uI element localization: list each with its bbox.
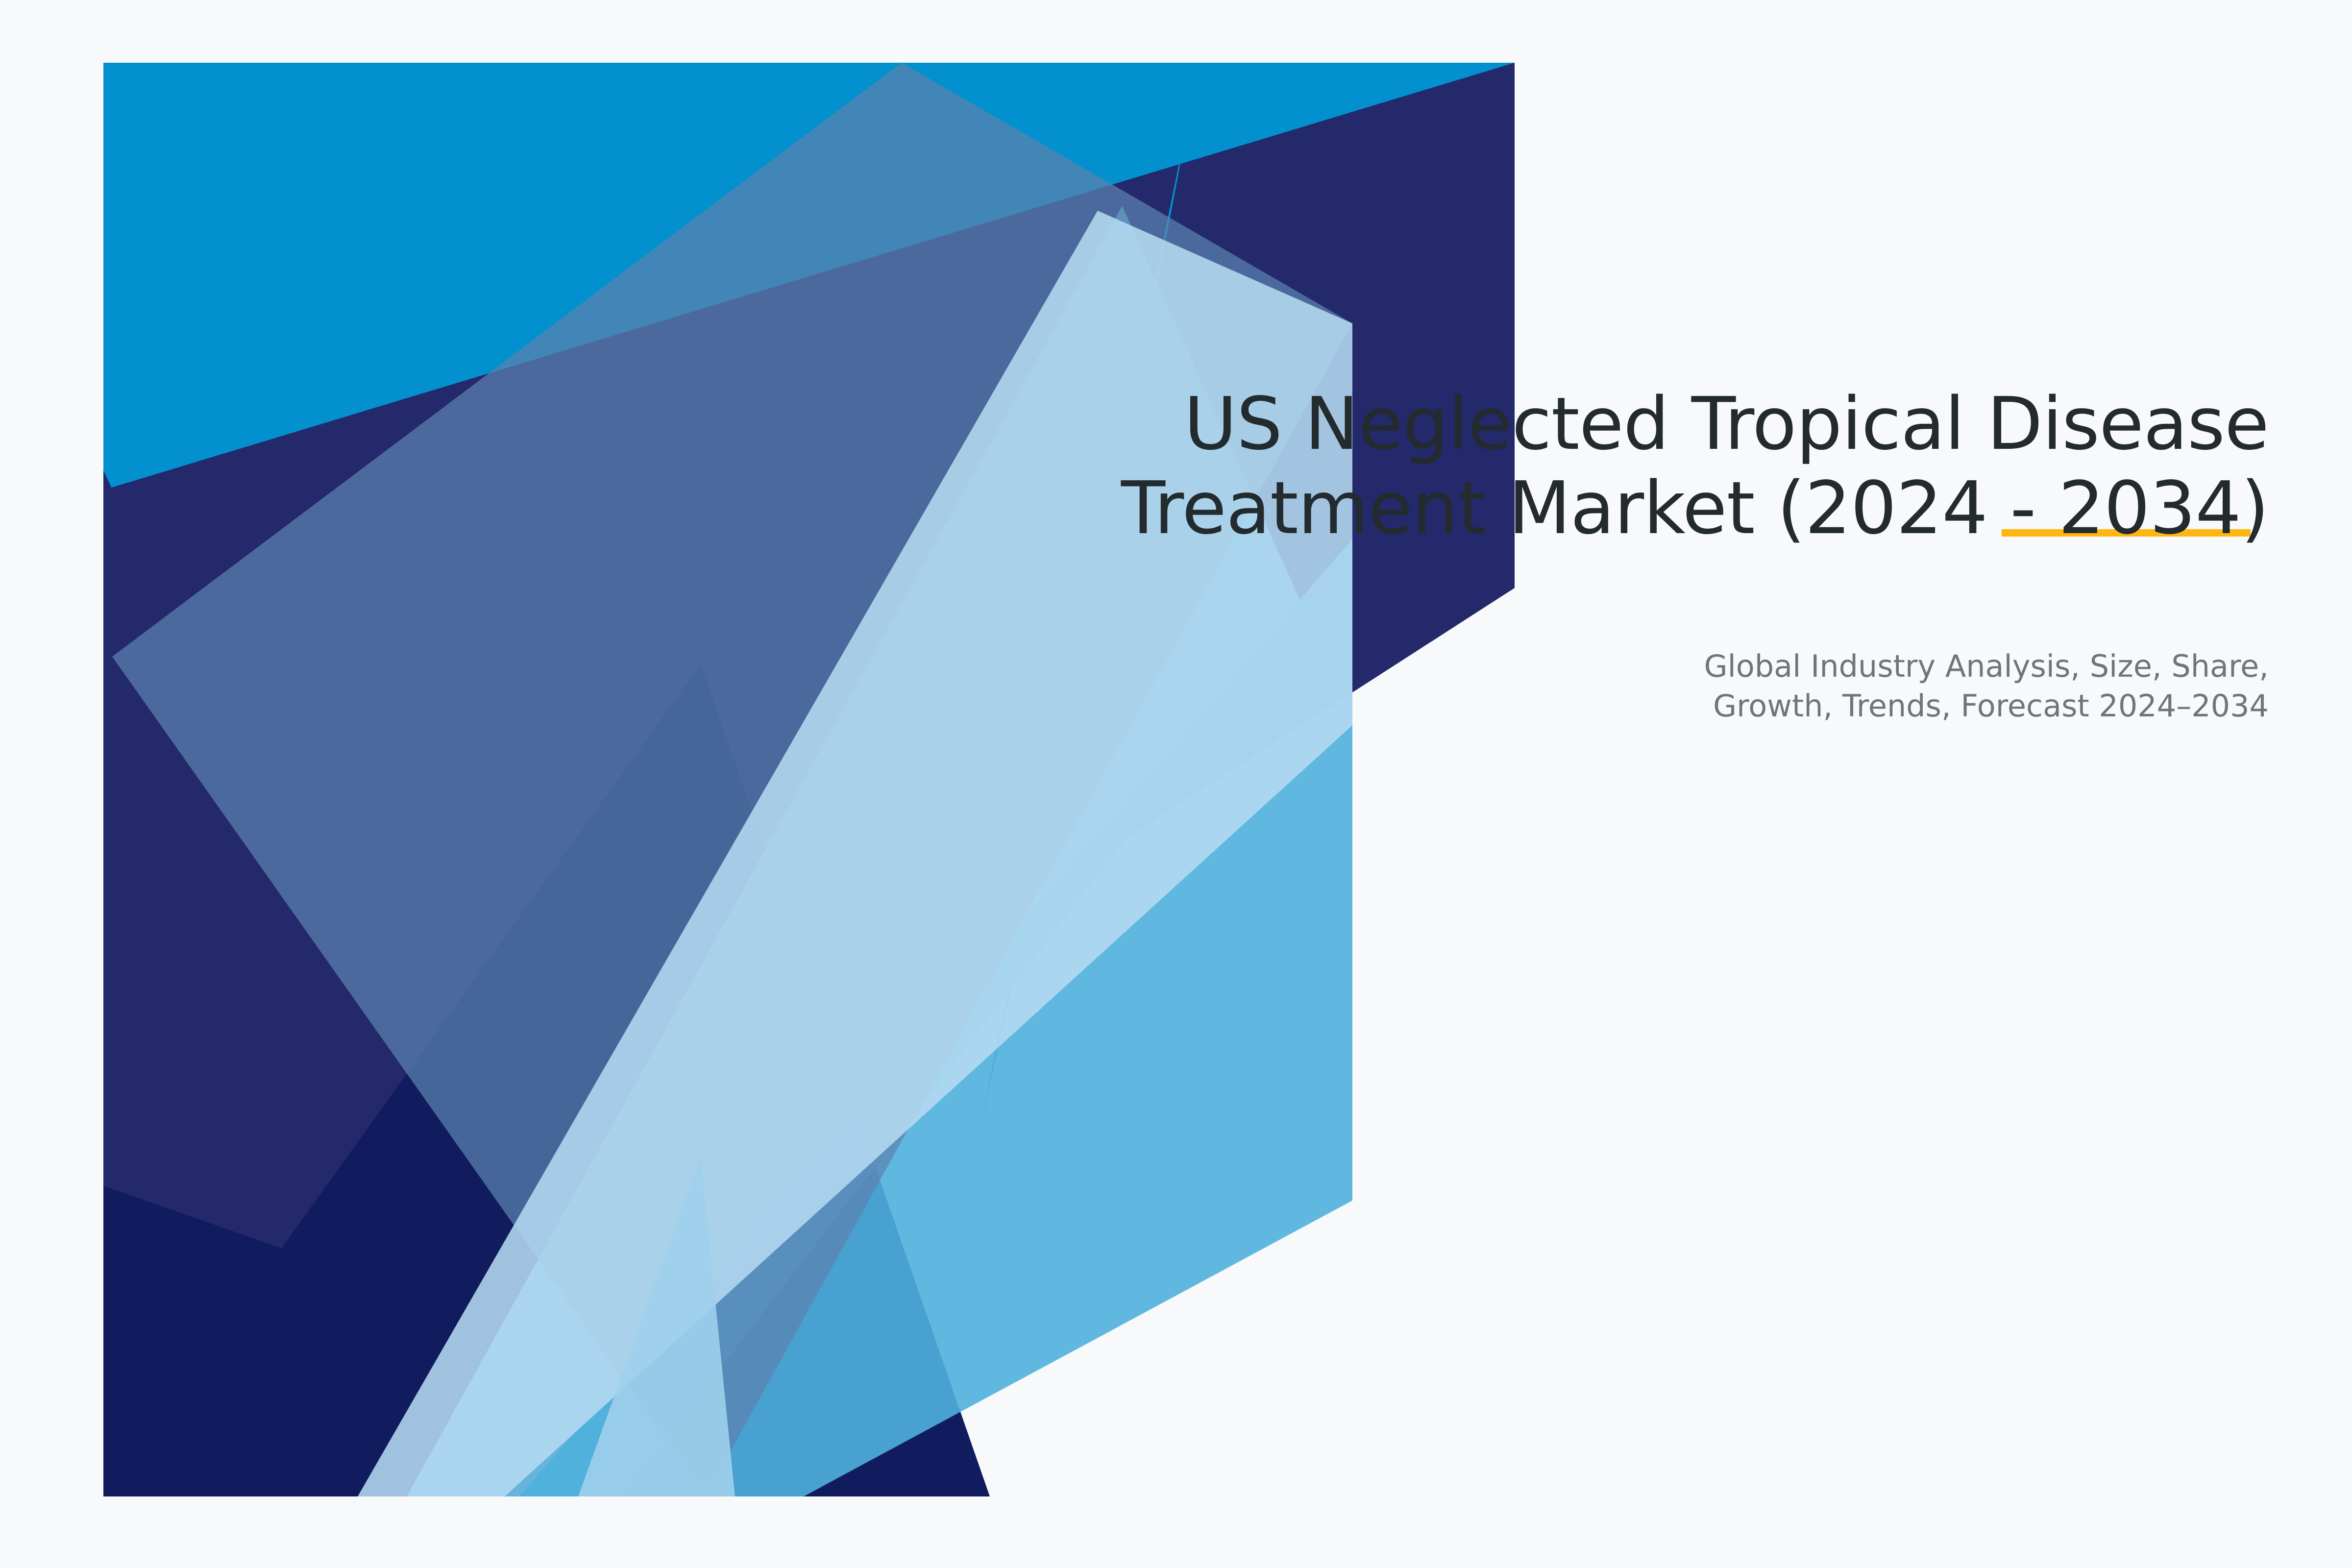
- page-title-line-2: Treatment Market (2024 - 2034): [1121, 466, 2269, 550]
- page-subtitle-line-1: Global Industry Analysis, Size, Share,: [1704, 648, 2269, 684]
- page-title-line-1: US Neglected Tropical Disease: [1184, 382, 2269, 466]
- cover-artwork: [0, 0, 2352, 1568]
- page-subtitle-line-2: Growth, Trends, Forecast 2024–2034: [1713, 688, 2269, 724]
- page-subtitle: Global Industry Analysis, Size, Share,Gr…: [1274, 647, 2269, 726]
- page-title: US Neglected Tropical DiseaseTreatment M…: [1029, 382, 2269, 550]
- report-cover: US Neglected Tropical DiseaseTreatment M…: [0, 0, 2352, 1568]
- cover-title-block: US Neglected Tropical DiseaseTreatment M…: [1029, 382, 2269, 550]
